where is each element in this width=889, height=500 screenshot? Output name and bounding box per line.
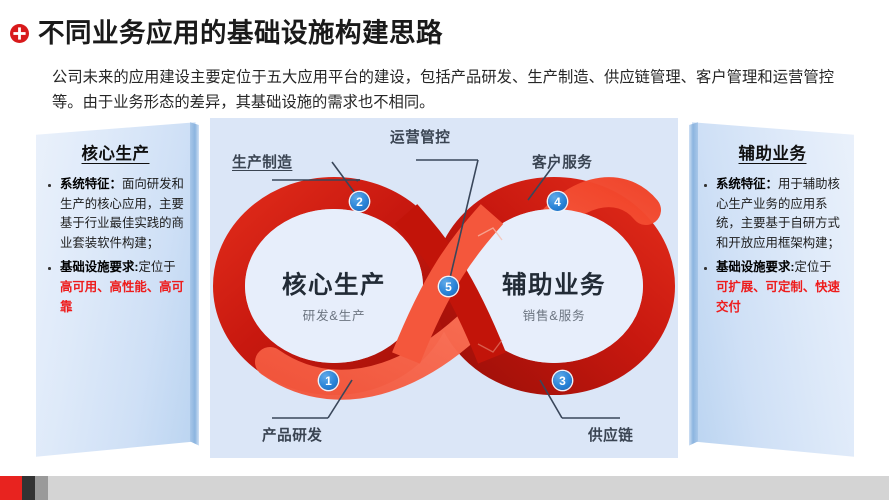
bullet-text: 定位于: [794, 260, 831, 274]
content-band: 核心生产 系统特征：面向研发和生产的核心应用，主要基于行业最佳实践的商业套装软件…: [0, 118, 889, 468]
footer-accent-red: [0, 476, 22, 500]
left-panel-heading: 核心生产: [47, 140, 184, 164]
left-panel: 核心生产 系统特征：面向研发和生产的核心应用，主要基于行业最佳实践的商业套装软件…: [36, 118, 196, 468]
callout-label-4: 客户服务: [532, 151, 592, 172]
bullet-label: 基础设施要求:: [60, 260, 138, 274]
callout-badge-1[interactable]: 1: [319, 371, 338, 390]
left-loop-subtitle: 研发&生产: [250, 305, 418, 324]
callout-label-5: 运营管控: [390, 126, 450, 147]
infinity-diagram-stage: 生产制造 运营管控 客户服务 产品研发 供应链 2 5 4 1 3 核心生产 研…: [210, 118, 678, 458]
callout-badge-4[interactable]: 4: [548, 192, 567, 211]
right-panel: 辅助业务 系统特征：用于辅助核心生产业务的应用系统，主要基于自研方式和开放应用框…: [692, 118, 854, 468]
right-panel-heading: 辅助业务: [703, 140, 842, 164]
bullet-highlight: 高可用、高性能、高可靠: [60, 280, 184, 314]
page-subtitle: 公司未来的应用建设主要定位于五大应用平台的建设，包括产品研发、生产制造、供应链管…: [52, 66, 834, 116]
list-item: 系统特征：用于辅助核心生产业务的应用系统，主要基于自研方式和开放应用框架构建；: [703, 175, 842, 253]
slide-root: 不同业务应用的基础设施构建思路 公司未来的应用建设主要定位于五大应用平台的建设，…: [0, 0, 889, 500]
bullet-label: 系统特征：: [716, 177, 778, 191]
right-panel-content: 辅助业务 系统特征：用于辅助核心生产业务的应用系统，主要基于自研方式和开放应用框…: [692, 118, 854, 468]
list-item: 系统特征：面向研发和生产的核心应用，主要基于行业最佳实践的商业套装软件构建；: [47, 175, 184, 253]
callout-badge-2[interactable]: 2: [350, 192, 369, 211]
list-item: 基础设施要求:定位于可扩展、可定制、快速交付: [703, 258, 842, 317]
bullet-label: 系统特征：: [60, 177, 122, 191]
footer-accent-dark: [22, 476, 35, 500]
bullet-label: 基础设施要求:: [716, 260, 794, 274]
right-loop-subtitle: 销售&服务: [470, 305, 638, 324]
callout-label-2: 生产制造: [232, 151, 292, 172]
left-loop-title: 核心生产: [250, 266, 418, 301]
bullet-highlight: 可扩展、可定制、快速交付: [716, 280, 840, 314]
right-loop-text: 辅助业务 销售&服务: [470, 266, 638, 324]
callout-label-1: 产品研发: [262, 424, 322, 445]
callout-badge-5[interactable]: 5: [439, 277, 458, 296]
plus-circle-icon: [10, 24, 29, 43]
callout-label-3: 供应链: [588, 424, 633, 445]
page-title-row: 不同业务应用的基础设施构建思路: [10, 20, 443, 47]
right-loop-title: 辅助业务: [470, 266, 638, 301]
footer-accent-gray: [35, 476, 48, 500]
page-title: 不同业务应用的基础设施构建思路: [38, 20, 443, 47]
left-loop-text: 核心生产 研发&生产: [250, 266, 418, 324]
callout-badge-3[interactable]: 3: [553, 371, 572, 390]
left-panel-content: 核心生产 系统特征：面向研发和生产的核心应用，主要基于行业最佳实践的商业套装软件…: [36, 118, 196, 468]
footer-bar: [0, 476, 889, 500]
left-panel-bullets: 系统特征：面向研发和生产的核心应用，主要基于行业最佳实践的商业套装软件构建； 基…: [47, 175, 184, 317]
right-panel-bullets: 系统特征：用于辅助核心生产业务的应用系统，主要基于自研方式和开放应用框架构建； …: [703, 175, 842, 317]
bullet-text: 定位于: [138, 260, 175, 274]
list-item: 基础设施要求:定位于高可用、高性能、高可靠: [47, 258, 184, 317]
